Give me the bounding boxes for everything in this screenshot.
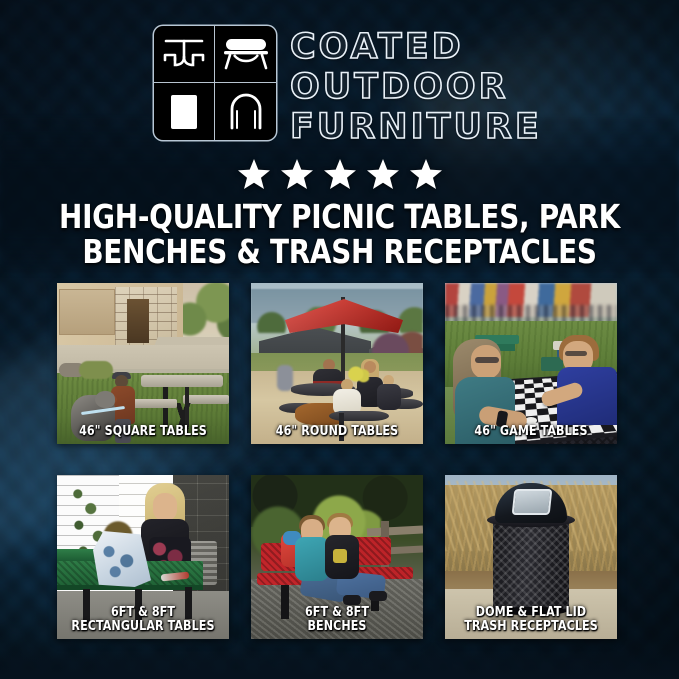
park-bench-icon <box>215 26 276 83</box>
product-card-caption: 46" GAME TABLES <box>449 425 612 439</box>
product-photo-square-tables <box>57 283 229 444</box>
product-card-caption: 46" SQUARE TABLES <box>61 425 224 439</box>
product-category-grid: 46" SQUARE TABLES <box>57 283 623 639</box>
promo-banner: COATED OUTDOOR FURNITURE HIGH-QUALITY PI… <box>0 0 679 679</box>
product-card-rectangular-tables[interactable]: 6FT & 8FT RECTANGULAR TABLES <box>57 475 229 639</box>
product-card-caption: 46" ROUND TABLES <box>255 425 418 439</box>
background-footer-scrim <box>0 639 679 679</box>
caption-line-2: BENCHES <box>255 620 418 634</box>
logo-icon-grid <box>154 26 276 140</box>
brand-word-line-1: COATED <box>290 28 542 66</box>
star-rating <box>0 158 679 190</box>
caption-line-1: 6FT & 8FT <box>255 606 418 620</box>
brand-word-line-3: FURNITURE <box>290 108 542 146</box>
caption-line-1: DOME & FLAT LID <box>449 606 612 620</box>
star-icon <box>366 158 400 190</box>
caption-line-1: 46" GAME TABLES <box>449 425 612 439</box>
product-photo-game-tables <box>445 283 617 444</box>
product-card-caption: DOME & FLAT LID TRASH RECEPTACLES <box>449 606 612 634</box>
headline-line-2: BENCHES & TRASH RECEPTACLES <box>43 234 636 269</box>
caption-line-1: 46" SQUARE TABLES <box>61 425 224 439</box>
product-card-round-tables[interactable]: 46" ROUND TABLES <box>251 283 423 444</box>
caption-line-1: 6FT & 8FT <box>61 606 224 620</box>
product-card-trash-receptacles[interactable]: DOME & FLAT LID TRASH RECEPTACLES <box>445 475 617 639</box>
brand-word-line-2: OUTDOOR <box>290 68 542 106</box>
product-photo-round-tables <box>251 283 423 444</box>
product-card-game-tables[interactable]: 46" GAME TABLES <box>445 283 617 444</box>
product-card-square-tables[interactable]: 46" SQUARE TABLES <box>57 283 229 444</box>
trash-receptacle-icon <box>154 83 215 140</box>
product-card-benches[interactable]: 6FT & 8FT BENCHES <box>251 475 423 639</box>
bike-rack-icon <box>215 83 276 140</box>
product-card-caption: 6FT & 8FT RECTANGULAR TABLES <box>61 606 224 634</box>
caption-line-1: 46" ROUND TABLES <box>255 425 418 439</box>
star-icon <box>237 158 271 190</box>
star-icon <box>323 158 357 190</box>
brand-logo: COATED OUTDOOR FURNITURE <box>154 26 542 146</box>
page-headline: HIGH-QUALITY PICNIC TABLES, PARK BENCHES… <box>43 199 636 269</box>
caption-line-2: TRASH RECEPTACLES <box>449 620 612 634</box>
star-icon <box>280 158 314 190</box>
caption-line-2: RECTANGULAR TABLES <box>61 620 224 634</box>
brand-wordmark: COATED OUTDOOR FURNITURE <box>290 26 542 146</box>
picnic-table-icon <box>154 26 215 83</box>
headline-line-1: HIGH-QUALITY PICNIC TABLES, PARK <box>59 197 620 236</box>
star-icon <box>409 158 443 190</box>
product-card-caption: 6FT & 8FT BENCHES <box>255 606 418 634</box>
